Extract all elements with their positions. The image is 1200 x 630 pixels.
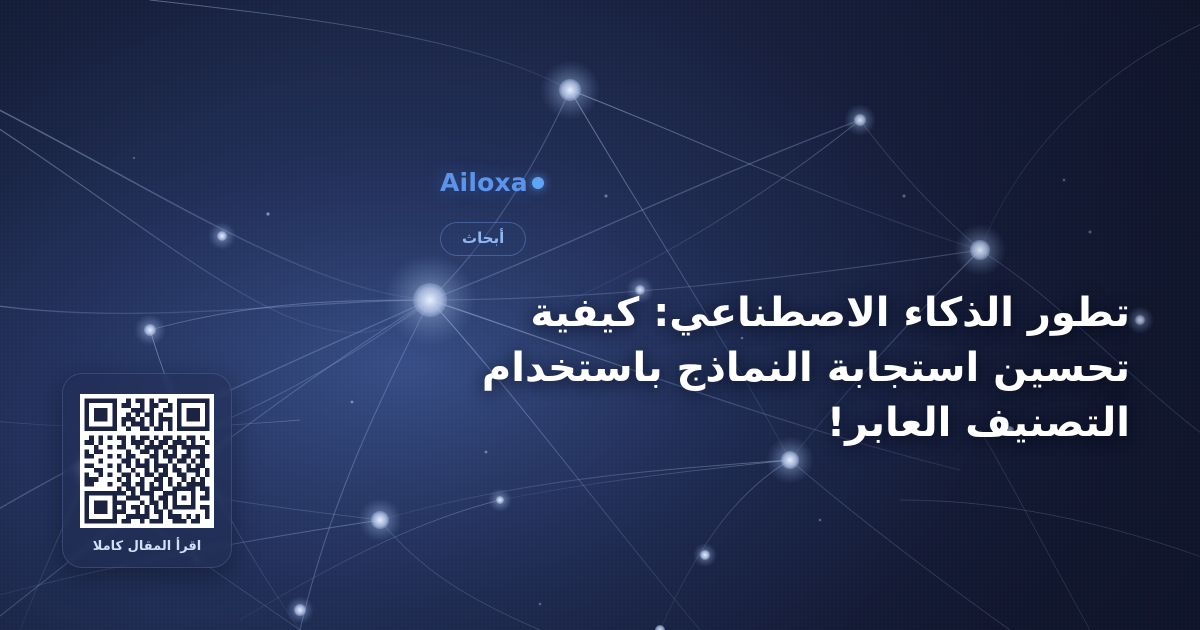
category-badge[interactable]: أبحاث: [440, 222, 526, 256]
page-title: تطور الذكاء الاصطناعي: كيفية تحسين استجا…: [440, 286, 1130, 452]
brand-dot-icon: [532, 177, 544, 189]
brand-name: Ailoxa: [440, 170, 528, 195]
content-column: Ailoxa أبحاث تطور الذكاء الاصطناعي: كيفي…: [440, 0, 1200, 630]
brand-logo[interactable]: Ailoxa: [440, 170, 544, 195]
qr-code-icon: [80, 394, 214, 528]
social-share-card: Ailoxa أبحاث تطور الذكاء الاصطناعي: كيفي…: [0, 0, 1200, 630]
qr-card[interactable]: اقرأ المقال كاملا: [62, 373, 232, 568]
qr-caption: اقرأ المقال كاملا: [93, 540, 202, 553]
